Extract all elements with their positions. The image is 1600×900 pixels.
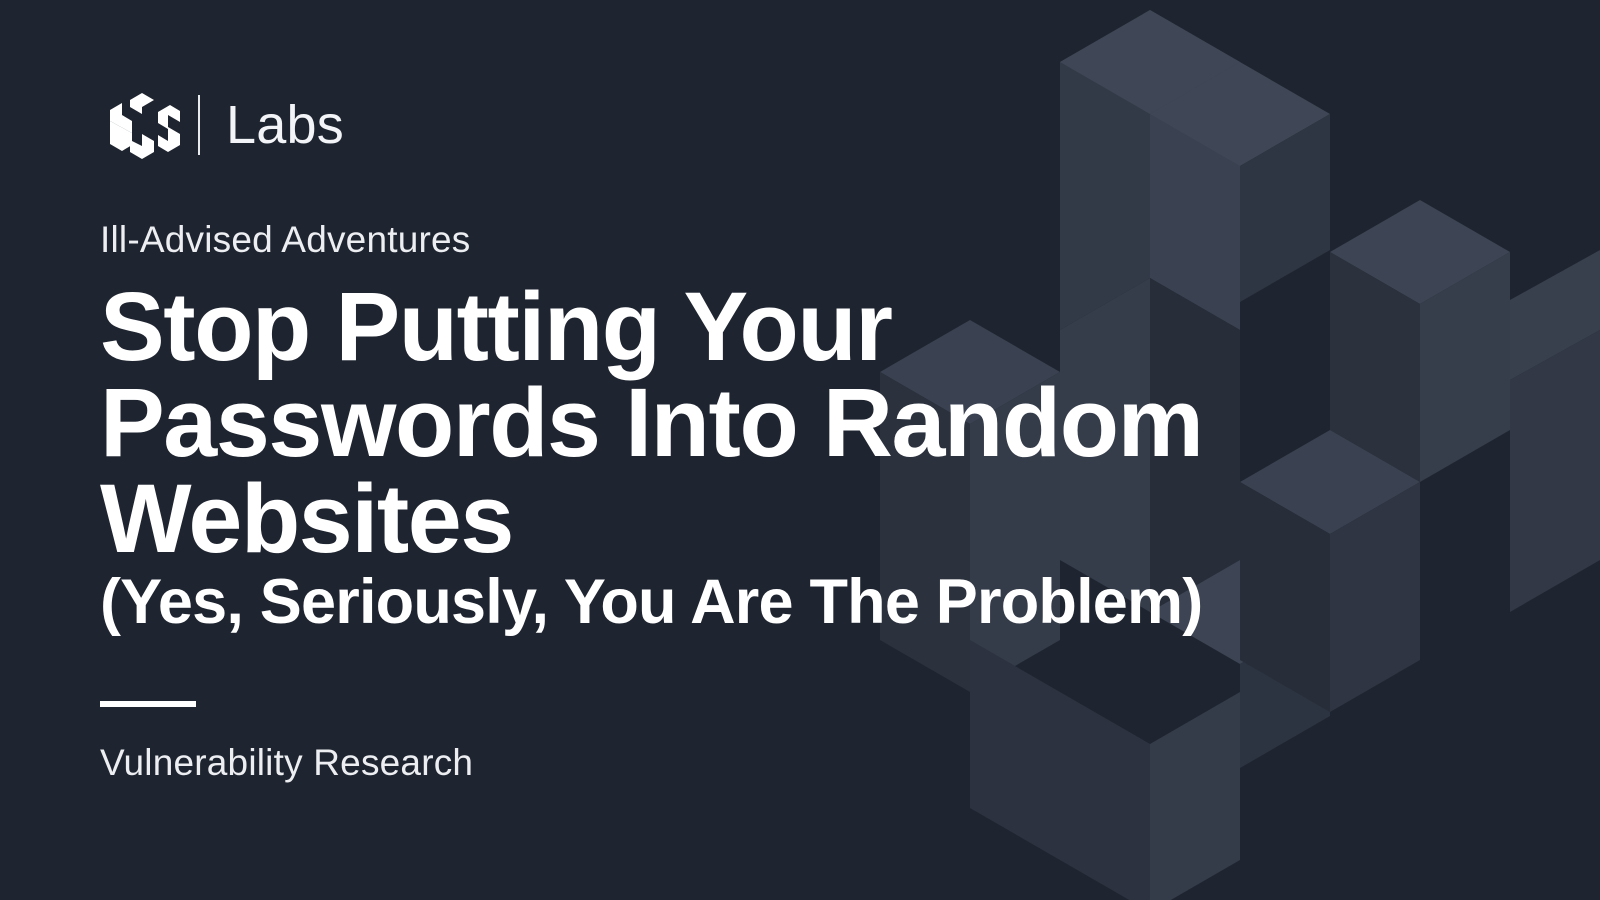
page-subtitle: (Yes, Seriously, You Are The Problem) xyxy=(100,571,1500,634)
footer-block: Vulnerability Research xyxy=(100,701,1500,840)
headline-line-2: Passwords Into Random xyxy=(100,368,1202,477)
headline-line-1: Stop Putting Your xyxy=(100,272,892,381)
isometric-cube-logo-icon xyxy=(100,88,184,162)
divider-rule xyxy=(100,701,196,707)
page-title: Stop Putting Your Passwords Into Random … xyxy=(100,279,1330,567)
brand-divider xyxy=(198,95,200,155)
headline-line-3: Websites xyxy=(100,464,513,573)
title-card: Labs Ill-Advised Adventures Stop Putting… xyxy=(0,0,1600,900)
series-eyebrow: Ill-Advised Adventures xyxy=(100,220,1500,261)
brand-lockup: Labs xyxy=(100,88,1500,162)
category-label: Vulnerability Research xyxy=(100,743,1500,784)
brand-wordmark: Labs xyxy=(226,98,344,152)
